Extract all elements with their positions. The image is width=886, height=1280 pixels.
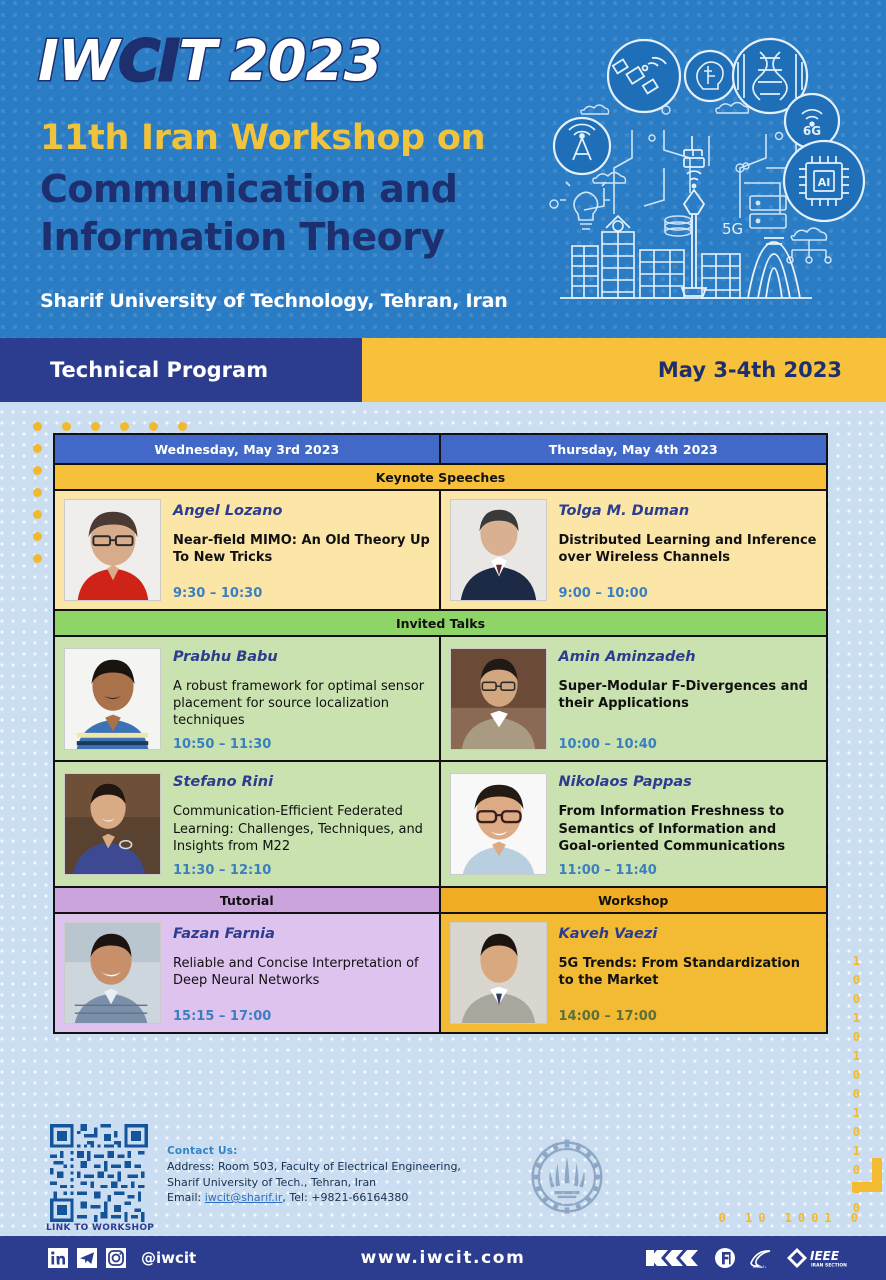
poster-root: IWCIT 2023 11th Iran Workshop on Communi… <box>0 0 886 1280</box>
table-row: Fazan Farnia Reliable and Concise Interp… <box>55 914 826 1032</box>
speaker-name: Nikolaos Pappas <box>559 774 819 790</box>
svg-text:دانشگاه: دانشگاه <box>753 1264 766 1269</box>
talk-cell-stefano-rini: Stefano Rini Communication-Efficient Fed… <box>55 762 441 885</box>
contact-email-label: Email: <box>167 1191 201 1204</box>
talk-time: 11:00 – 11:40 <box>559 863 819 878</box>
speaker-name: Angel Lozano <box>173 503 431 519</box>
talk-time: 10:50 – 11:30 <box>173 737 431 752</box>
talk-body: Tolga M. Duman Distributed Learning and … <box>559 499 819 601</box>
contact-block: Contact Us: Address: Room 503, Faculty o… <box>167 1144 461 1206</box>
sponsor-logos: دانشگاه IEEE IRAN SECTION <box>646 1247 860 1269</box>
speaker-photo-prabhu-babu <box>64 648 161 750</box>
speaker-photo-angel-lozano <box>64 499 161 601</box>
talk-cell-amin-aminzadeh: Amin Aminzadeh Super-Modular F-Divergenc… <box>441 637 827 760</box>
speaker-photo-amin-aminzadeh <box>450 648 547 750</box>
amber-dot <box>33 510 42 519</box>
logo-mid: CI <box>119 29 179 94</box>
talk-time: 14:00 – 17:00 <box>559 1009 819 1024</box>
header-title: Communication and Information Theory <box>40 166 457 261</box>
sponsor-circle-logo <box>714 1247 736 1269</box>
binary-digit: 0 <box>853 1031 860 1043</box>
amber-dot <box>33 488 42 497</box>
talk-title: A robust framework for optimal sensor pl… <box>173 678 431 729</box>
amber-dot <box>62 422 71 431</box>
talk-body: Angel Lozano Near-field MIMO: An Old The… <box>173 499 431 601</box>
logo-suffix: T <box>179 29 216 94</box>
amber-dot <box>33 466 42 475</box>
contact-title: Contact Us: <box>167 1144 461 1159</box>
talk-body: Kaveh Vaezi 5G Trends: From Standardizat… <box>559 922 819 1024</box>
speaker-name: Amin Aminzadeh <box>559 649 819 665</box>
iwcit-logo: IWCIT 2023 <box>38 34 382 90</box>
technical-program-label: Technical Program <box>50 358 268 382</box>
contact-address-line-1: Address: Room 503, Faculty of Electrical… <box>167 1159 461 1175</box>
header-title-line-1: Communication and <box>40 166 457 214</box>
talk-title: 5G Trends: From Standardization to the M… <box>559 955 819 1001</box>
day-header-thursday: Thursday, May 4th 2023 <box>441 435 827 463</box>
icee-logo <box>646 1247 702 1269</box>
talk-title: Near-field MIMO: An Old Theory Up To New… <box>173 532 431 578</box>
talk-cell-tolga-duman: Tolga M. Duman Distributed Learning and … <box>441 491 827 609</box>
swoosh-logo: دانشگاه <box>748 1247 774 1269</box>
speaker-photo-kaveh-vaezi <box>450 922 547 1024</box>
logo-prefix: IW <box>38 29 119 94</box>
qr-caption: LINK TO WORKSHOP <box>46 1223 154 1233</box>
talk-cell-nikolaos-pappas: Nikolaos Pappas From Information Freshne… <box>441 762 827 885</box>
sharif-university-logo <box>528 1138 606 1216</box>
talk-title: From Information Freshness to Semantics … <box>559 803 819 854</box>
contact-email-row: Email: iwcit@sharif.ir, Tel: +9821-66164… <box>167 1190 461 1206</box>
binary-decoration-row: 0 10 1001 0 <box>719 1211 864 1225</box>
amber-dot <box>33 532 42 541</box>
talk-body: Fazan Farnia Reliable and Concise Interp… <box>173 922 431 1024</box>
header-title-line-2: Information Theory <box>40 214 457 262</box>
binary-digit: 1 <box>853 1145 860 1157</box>
talk-title: Communication-Efficient Federated Learni… <box>173 803 431 854</box>
binary-digit: 0 <box>853 1088 860 1100</box>
speaker-photo-tolga-duman <box>450 499 547 601</box>
header-subtitle: 11th Iran Workshop on <box>40 118 485 158</box>
talk-title: Distributed Learning and Inference over … <box>559 532 819 578</box>
binary-digit: 0 <box>853 1069 860 1081</box>
amber-dot-column <box>33 422 42 563</box>
speaker-name: Prabhu Babu <box>173 649 431 665</box>
talk-time: 9:00 – 10:00 <box>559 586 819 601</box>
poster-footer: @iwcit www.iwcit.com دانشگاه <box>0 1236 886 1280</box>
speaker-photo-nikolaos-pappas <box>450 773 547 875</box>
talk-title: Super-Modular F-Divergences and their Ap… <box>559 678 819 729</box>
table-row: Angel Lozano Near-field MIMO: An Old The… <box>55 491 826 609</box>
label-5g: 5G <box>722 220 743 238</box>
speaker-name: Stefano Rini <box>173 774 431 790</box>
label-6g: 6G <box>803 124 821 138</box>
contact-tel: Tel: +9821-66164380 <box>289 1191 408 1204</box>
amber-dot-row <box>33 422 187 431</box>
talk-cell-angel-lozano: Angel Lozano Near-field MIMO: An Old The… <box>55 491 441 609</box>
talk-time: 9:30 – 10:30 <box>173 586 431 601</box>
binary-digit: 1 <box>853 1012 860 1024</box>
section-header-keynote-speeches: Keynote Speeches <box>55 463 826 491</box>
talk-cell-prabhu-babu: Prabhu Babu A robust framework for optim… <box>55 637 441 760</box>
amber-dot <box>149 422 158 431</box>
ieee-section-label: IRAN SECTION <box>811 1263 847 1269</box>
poster-header: IWCIT 2023 11th Iran Workshop on Communi… <box>0 0 886 338</box>
talk-cell-fazan-farnia: Fazan Farnia Reliable and Concise Interp… <box>55 914 441 1032</box>
talk-time: 11:30 – 12:10 <box>173 863 431 878</box>
talk-time: 15:15 – 17:00 <box>173 1009 431 1024</box>
amber-dot <box>120 422 129 431</box>
amber-dot <box>178 422 187 431</box>
label-ai: AI <box>818 176 831 189</box>
speaker-photo-stefano-rini <box>64 773 161 875</box>
qr-code[interactable] <box>50 1124 148 1222</box>
technical-program-label-box: Technical Program <box>0 338 362 402</box>
binary-digit: 0 <box>853 1126 860 1138</box>
iwcit-wordmark: IWCIT <box>38 34 216 90</box>
day-header-wednesday: Wednesday, May 3rd 2023 <box>55 435 441 463</box>
dates-label: May 3-4th 2023 <box>658 358 842 382</box>
speaker-name: Kaveh Vaezi <box>559 926 819 942</box>
talk-cell-kaveh-vaezi: Kaveh Vaezi 5G Trends: From Standardizat… <box>441 914 827 1032</box>
binary-digit: 0 <box>853 974 860 986</box>
program-title-bar: Technical Program May 3-4th 2023 <box>0 338 886 402</box>
section-header-tutorial: Tutorial <box>55 886 441 914</box>
table-day-header-row: Wednesday, May 3rd 2023 Thursday, May 4t… <box>55 435 826 463</box>
speaker-name: Fazan Farnia <box>173 926 431 942</box>
contact-email-link[interactable]: iwcit@sharif.ir <box>205 1191 283 1204</box>
talk-time: 10:00 – 10:40 <box>559 737 819 752</box>
binary-digit: 0 <box>853 993 860 1005</box>
talk-body: Stefano Rini Communication-Efficient Fed… <box>173 770 431 877</box>
binary-digit: 1 <box>853 1107 860 1119</box>
logo-year: 2023 <box>230 34 382 90</box>
talk-body: Nikolaos Pappas From Information Freshne… <box>559 770 819 877</box>
dates-label-box: May 3-4th 2023 <box>362 338 886 402</box>
ieee-wordmark: IEEE <box>810 1249 840 1263</box>
speaker-name: Tolga M. Duman <box>559 503 819 519</box>
binary-digit: 1 <box>853 1050 860 1062</box>
section-header-workshop: Workshop <box>441 886 827 914</box>
program-table: Wednesday, May 3rd 2023 Thursday, May 4t… <box>53 433 828 1034</box>
amber-dot <box>33 444 42 453</box>
tech-city-illustration: 6G AI <box>544 18 884 330</box>
amber-dot <box>33 554 42 563</box>
table-row: Stefano Rini Communication-Efficient Fed… <box>55 760 826 885</box>
talk-body: Prabhu Babu A robust framework for optim… <box>173 645 431 752</box>
header-venue: Sharif University of Technology, Tehran,… <box>40 290 508 312</box>
corner-bracket-decoration <box>852 1158 882 1192</box>
table-row: Prabhu Babu A robust framework for optim… <box>55 637 826 760</box>
talk-title: Reliable and Concise Interpretation of D… <box>173 955 431 1001</box>
ieee-logo: IEEE IRAN SECTION <box>786 1247 860 1269</box>
contact-address-line-2: Sharif University of Tech., Tehran, Iran <box>167 1175 461 1191</box>
amber-dot <box>91 422 100 431</box>
amber-dot <box>33 422 42 431</box>
binary-digit: 1 <box>853 955 860 967</box>
speaker-photo-fazan-farnia <box>64 922 161 1024</box>
section-header-invited-talks: Invited Talks <box>55 609 826 637</box>
section-header-row-tutorial-workshop: Tutorial Workshop <box>55 886 826 914</box>
talk-body: Amin Aminzadeh Super-Modular F-Divergenc… <box>559 645 819 752</box>
